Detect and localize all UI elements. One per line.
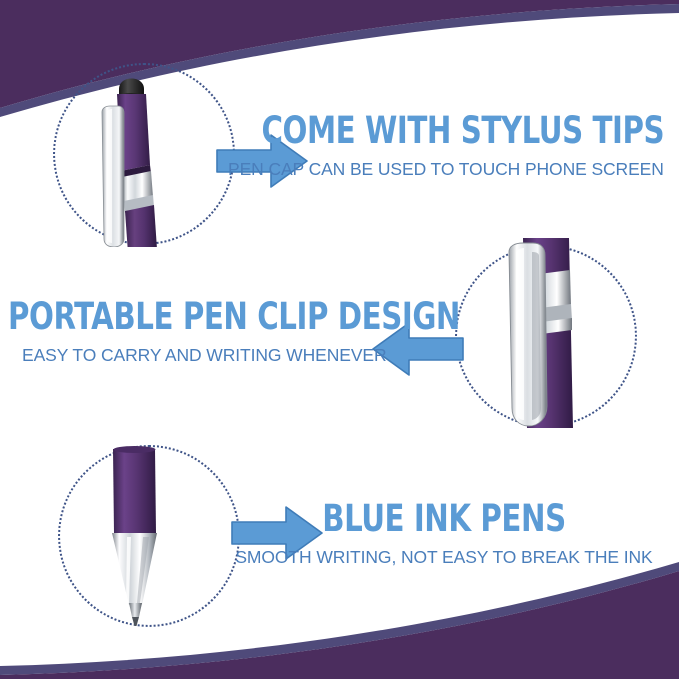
feature-subline-ink: SMOOTH WRITING, NOT EASY TO BREAK THE IN… (228, 549, 660, 567)
feature-figure-stylus (40, 55, 240, 260)
feature-headline-stylus: COME WITH STYLUS TIPS (261, 112, 634, 149)
feature-text-stylus: COME WITH STYLUS TIPS PEN CAP CAN BE USE… (228, 112, 660, 179)
feature-headline-ink: BLUE INK PENS (254, 500, 634, 537)
feature-subline-stylus: PEN CAP CAN BE USED TO TOUCH PHONE SCREE… (228, 161, 660, 179)
feature-text-ink: BLUE INK PENS SMOOTH WRITING, NOT EASY T… (228, 500, 660, 567)
pen-clip-illustration (493, 238, 593, 428)
pen-stylus-tip-illustration (88, 67, 193, 247)
product-infographic: COME WITH STYLUS TIPS PEN CAP CAN BE USE… (0, 0, 679, 679)
feature-text-clip: PORTABLE PEN CLIP DESIGN EASY TO CARRY A… (8, 298, 383, 365)
pen-writing-tip-illustration (97, 445, 197, 627)
feature-subline-clip: EASY TO CARRY AND WRITING WHENEVER (22, 347, 383, 365)
feature-headline-clip: PORTABLE PEN CLIP DESIGN (8, 298, 338, 335)
